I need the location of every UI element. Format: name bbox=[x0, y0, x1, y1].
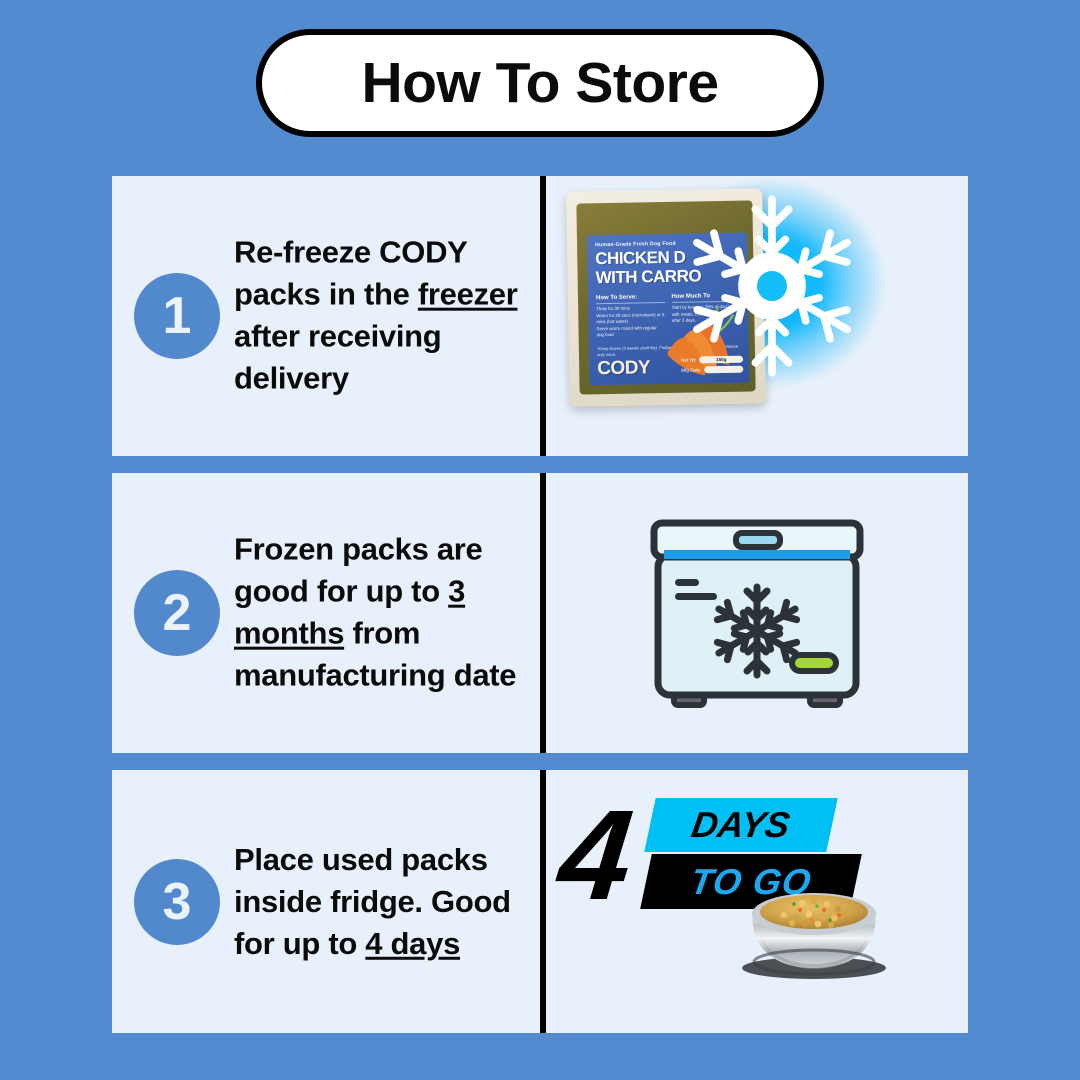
pack-serve-heading: How To Serve: bbox=[596, 294, 665, 304]
step-2-text-area: 2 Frozen packs are good for up to 3 mont… bbox=[112, 473, 540, 753]
step-card-2: 2 Frozen packs are good for up to 3 mont… bbox=[112, 473, 968, 753]
snowflake-icon bbox=[664, 186, 880, 386]
pack-serve-item: Serve warm mixed with regular dog food bbox=[596, 325, 665, 339]
step-3-text-area: 3 Place used packs inside fridge. Good f… bbox=[112, 770, 540, 1033]
infographic-page: How To Store 1 Re-freeze CODY packs in t… bbox=[0, 0, 1080, 1080]
step-1-text-after: after receiving delivery bbox=[234, 319, 441, 396]
step-description-3: Place used packs inside fridge. Good for… bbox=[234, 838, 534, 964]
pack-serve-item: Warm for 30 secs (microwave) or 5 mins (… bbox=[596, 312, 665, 326]
step-number-1: 1 bbox=[163, 290, 192, 342]
pack-serve-column: How To Serve: Thaw for 30 mins Warm for … bbox=[596, 294, 665, 339]
step-1-text-area: 1 Re-freeze CODY packs in the freezer af… bbox=[112, 176, 540, 456]
step-1-emphasis: freezer bbox=[418, 277, 518, 312]
page-title-pill: How To Store bbox=[256, 29, 824, 137]
countdown-illustration: 4 DAYS TO GO bbox=[546, 770, 968, 1033]
step-card-3: 3 Place used packs inside fridge. Good f… bbox=[112, 770, 968, 1033]
page-title: How To Store bbox=[361, 55, 718, 112]
step-number-badge-1: 1 bbox=[134, 273, 220, 359]
step-description-2: Frozen packs are good for up to 3 months… bbox=[234, 529, 534, 698]
days-banner: DAYS bbox=[644, 798, 837, 852]
days-label: DAYS bbox=[689, 807, 792, 843]
step-card-1: 1 Re-freeze CODY packs in the freezer af… bbox=[112, 176, 968, 456]
step-3-emphasis: 4 days bbox=[365, 926, 460, 961]
step-2-art-area bbox=[546, 473, 968, 753]
step-2-text-before: Frozen packs are good for up to bbox=[234, 532, 482, 609]
step-number-badge-3: 3 bbox=[134, 859, 220, 945]
freezer-illustration bbox=[546, 473, 968, 753]
step-number-2: 2 bbox=[163, 587, 192, 639]
pack-brand: CODY bbox=[597, 357, 650, 380]
step-1-art-area: Human-Grade Fresh Dog Food CHICKEN D WIT… bbox=[546, 176, 968, 456]
frozen-pack-illustration: Human-Grade Fresh Dog Food CHICKEN D WIT… bbox=[546, 176, 968, 456]
step-3-art-area: 4 DAYS TO GO bbox=[546, 770, 968, 1033]
step-number-3: 3 bbox=[163, 876, 192, 928]
dog-bowl-icon bbox=[734, 870, 894, 980]
chest-freezer-icon bbox=[632, 503, 882, 723]
step-number-badge-2: 2 bbox=[134, 570, 220, 656]
countdown-number: 4 bbox=[553, 792, 630, 920]
step-description-1: Re-freeze CODY packs in the freezer afte… bbox=[234, 232, 534, 401]
